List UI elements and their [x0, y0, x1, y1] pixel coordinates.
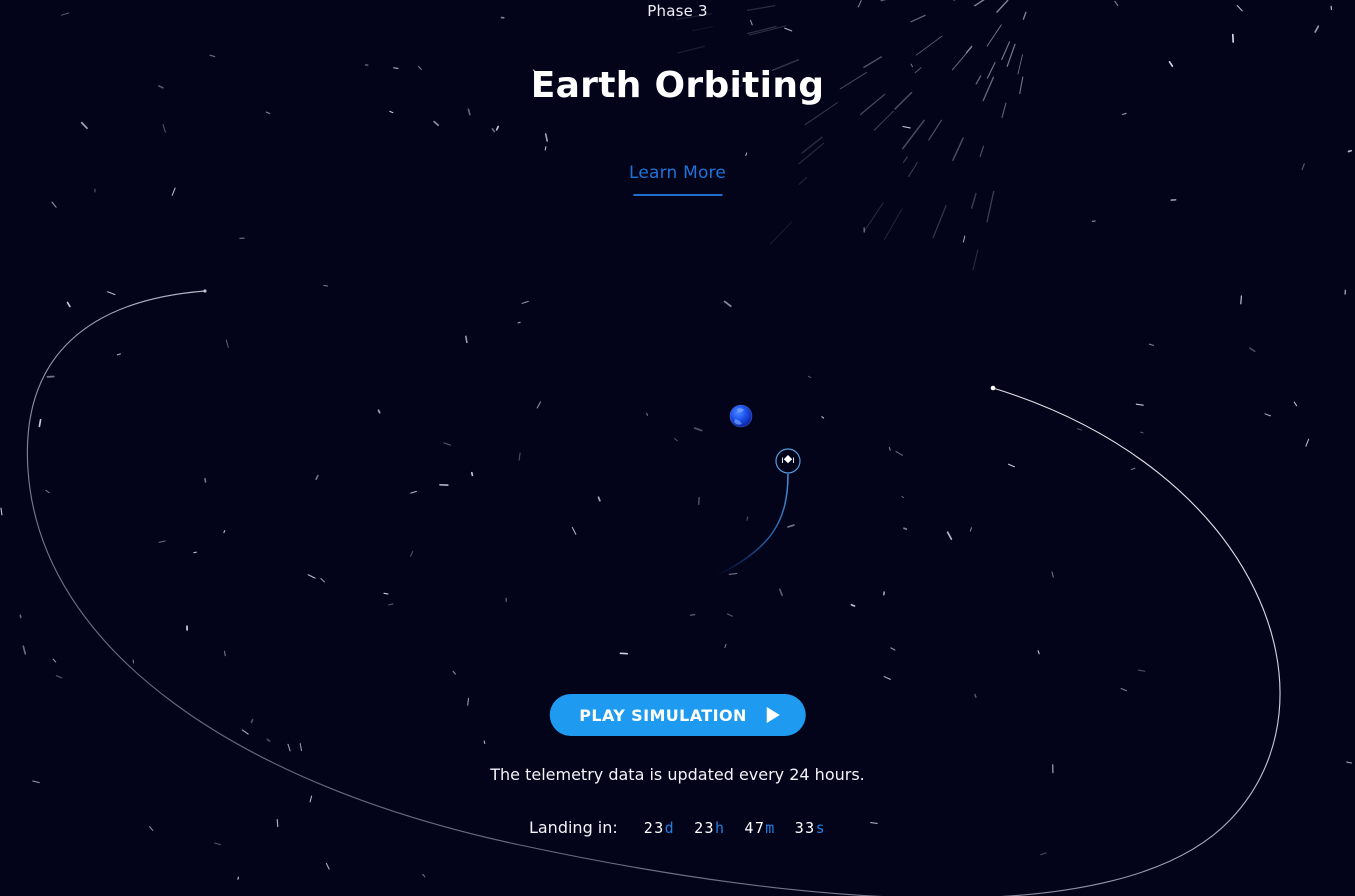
star	[384, 593, 388, 594]
star	[647, 413, 648, 415]
star	[747, 517, 748, 520]
star-streak	[915, 68, 921, 73]
star	[1250, 348, 1255, 351]
star	[23, 646, 25, 654]
learn-more-underline	[633, 194, 722, 196]
star	[1041, 853, 1046, 855]
star	[492, 129, 494, 132]
star	[53, 659, 56, 662]
star	[1078, 429, 1082, 430]
star-streak	[1002, 103, 1006, 117]
phase-label: Phase 3	[647, 0, 708, 22]
star-streak	[840, 72, 866, 89]
star	[39, 420, 40, 427]
star	[518, 322, 520, 323]
star	[675, 439, 678, 441]
star	[484, 741, 485, 744]
star-streak	[748, 6, 775, 11]
star	[891, 648, 895, 650]
star-streak	[799, 143, 824, 164]
star	[20, 615, 21, 617]
telemetry-note: The telemetry data is updated every 24 h…	[490, 764, 865, 786]
space-scene-page: Phase 3 Earth Orbiting Learn More PLAY S…	[0, 0, 1355, 896]
star-streak	[980, 146, 983, 156]
star	[252, 720, 253, 723]
star	[150, 827, 153, 831]
star	[545, 147, 546, 150]
star-streak	[929, 120, 942, 140]
star-streak	[861, 94, 885, 114]
star	[423, 874, 425, 876]
space-canvas	[0, 0, 1355, 896]
star	[288, 744, 290, 751]
star	[1141, 432, 1143, 433]
star-streak-burst-icon	[677, 0, 1026, 270]
play-simulation-label: PLAY SIMULATION	[579, 706, 747, 725]
countdown-segment-h: 23h	[694, 816, 725, 840]
countdown-value: 47	[744, 819, 765, 837]
star	[194, 552, 197, 553]
star-streak	[953, 138, 963, 160]
star	[68, 303, 70, 307]
star	[434, 122, 438, 126]
star-streak	[799, 177, 807, 184]
star	[46, 491, 49, 493]
spacecraft-marker[interactable]	[776, 449, 800, 473]
star-streak	[881, 0, 912, 1]
star-streak	[750, 26, 786, 35]
star	[725, 644, 726, 647]
countdown-unit: s	[816, 819, 826, 837]
star	[324, 285, 328, 286]
star	[729, 573, 737, 574]
star	[889, 448, 890, 451]
star-streak	[1007, 44, 1015, 66]
star	[321, 579, 325, 582]
star	[1241, 296, 1242, 304]
star	[1306, 439, 1309, 446]
star	[52, 202, 56, 207]
star	[56, 676, 61, 678]
star-streak	[904, 157, 908, 163]
star	[808, 376, 811, 377]
star	[1294, 402, 1296, 406]
star-streak	[975, 0, 1005, 6]
countdown-segment-s: 33s	[795, 816, 826, 840]
star-streak	[1018, 55, 1023, 74]
star-streak	[967, 46, 972, 52]
star-streak	[997, 0, 1008, 12]
star-streak	[1023, 12, 1026, 19]
countdown-value: 23	[694, 819, 715, 837]
star-streak	[1020, 77, 1023, 93]
star	[159, 541, 165, 542]
star	[163, 125, 165, 133]
starfield	[1, 1, 1352, 880]
star	[948, 532, 952, 539]
star	[267, 739, 269, 741]
star	[963, 236, 964, 242]
star	[1237, 6, 1242, 11]
star	[238, 877, 239, 879]
star	[390, 111, 393, 112]
star	[884, 677, 890, 680]
star	[411, 491, 417, 493]
countdown-timer: Landing in: 23d23h47m33s	[529, 816, 826, 840]
star	[695, 428, 702, 431]
star-streak	[802, 137, 822, 153]
star	[788, 525, 794, 527]
star	[444, 443, 451, 445]
orbit-endpoint-marker	[991, 386, 996, 391]
star	[225, 651, 226, 655]
star	[727, 614, 732, 616]
star	[453, 671, 455, 674]
countdown-unit: m	[765, 819, 775, 837]
star	[468, 699, 469, 706]
star-streak	[952, 47, 972, 70]
star	[497, 127, 499, 130]
star	[903, 127, 910, 128]
star	[389, 604, 393, 605]
star	[108, 292, 115, 295]
star	[242, 730, 248, 734]
star-streak	[903, 120, 924, 148]
star	[379, 410, 380, 413]
star	[1302, 164, 1304, 170]
star	[411, 552, 413, 557]
star	[1149, 344, 1153, 345]
star	[310, 796, 312, 802]
star	[519, 453, 520, 460]
star	[572, 527, 576, 534]
content-overlay: Phase 3 Earth Orbiting Learn More PLAY S…	[0, 0, 1355, 896]
star-streak	[911, 15, 925, 21]
countdown-label: Landing in:	[529, 816, 618, 840]
star-streak	[987, 63, 995, 79]
star-streak	[933, 206, 946, 238]
countdown-unit: d	[665, 819, 675, 837]
star	[546, 134, 548, 141]
star	[1121, 689, 1126, 691]
learn-more-block: Learn More	[629, 161, 726, 196]
star	[1038, 651, 1039, 654]
star	[62, 13, 69, 15]
star-streak	[916, 36, 942, 55]
star	[205, 479, 206, 482]
star	[1136, 404, 1143, 405]
star	[1115, 1, 1118, 5]
star	[1347, 762, 1352, 763]
spacecraft-trajectory	[718, 474, 788, 575]
star-streak	[884, 209, 902, 240]
star-streak	[875, 111, 894, 130]
countdown-value: 33	[795, 819, 816, 837]
star	[896, 452, 903, 456]
star-streak	[692, 27, 712, 31]
star	[871, 823, 878, 824]
star	[599, 497, 600, 501]
star	[780, 589, 782, 595]
star	[725, 302, 731, 307]
earth-globe	[730, 405, 752, 427]
star	[33, 781, 39, 783]
star	[1052, 572, 1053, 577]
star	[1139, 670, 1145, 671]
star	[172, 188, 175, 195]
star	[1123, 113, 1127, 114]
star	[911, 64, 912, 67]
star	[746, 153, 747, 156]
star	[210, 55, 215, 56]
star-streak	[864, 57, 881, 67]
star	[215, 843, 221, 845]
star	[537, 402, 540, 408]
star-streak	[972, 194, 976, 208]
orbit-ellipse	[27, 291, 1280, 896]
star	[522, 301, 528, 303]
star	[822, 417, 824, 418]
star	[1009, 464, 1015, 467]
star	[691, 615, 695, 616]
star	[266, 112, 269, 114]
star	[1170, 62, 1173, 66]
star	[419, 66, 422, 69]
star	[394, 68, 398, 69]
star	[1131, 468, 1135, 469]
star	[472, 473, 473, 476]
star	[300, 744, 301, 751]
star	[469, 109, 470, 114]
countdown-segments: 23d23h47m33s	[644, 816, 826, 840]
star-streak	[748, 27, 777, 34]
star	[82, 123, 87, 129]
star	[224, 531, 225, 533]
countdown-segment-m: 47m	[744, 816, 775, 840]
star	[316, 476, 318, 480]
star-streak	[1002, 42, 1010, 60]
star-streak	[865, 203, 884, 231]
star	[852, 605, 855, 606]
star	[308, 575, 315, 578]
star	[159, 86, 163, 88]
countdown-segment-d: 23d	[644, 816, 675, 840]
star-streak	[770, 222, 791, 244]
play-triangle-icon	[767, 707, 780, 723]
star	[1265, 414, 1270, 416]
play-simulation-button[interactable]: PLAY SIMULATION	[549, 694, 806, 736]
star	[1, 508, 2, 515]
page-title: Earth Orbiting	[531, 64, 825, 108]
orbit-start-marker	[203, 289, 206, 292]
star	[226, 340, 228, 347]
star	[117, 354, 120, 355]
countdown-value: 23	[644, 819, 665, 837]
star-streak	[895, 93, 912, 110]
star	[902, 496, 904, 497]
star-streak	[983, 77, 993, 100]
star	[785, 28, 792, 31]
star	[970, 528, 971, 531]
star	[904, 528, 906, 529]
star	[326, 863, 329, 869]
countdown-unit: h	[715, 819, 725, 837]
star	[751, 20, 753, 25]
star-streak	[987, 25, 1001, 46]
star	[277, 820, 278, 827]
learn-more-link[interactable]: Learn More	[629, 161, 726, 185]
star	[858, 1, 861, 7]
star	[1349, 151, 1352, 152]
star	[1315, 26, 1318, 32]
star-streak	[976, 76, 980, 84]
star-streak	[973, 250, 978, 270]
star-streak	[987, 192, 994, 222]
star	[975, 695, 976, 697]
star	[466, 336, 467, 342]
star-streak	[909, 163, 918, 177]
star-streak	[678, 46, 704, 53]
